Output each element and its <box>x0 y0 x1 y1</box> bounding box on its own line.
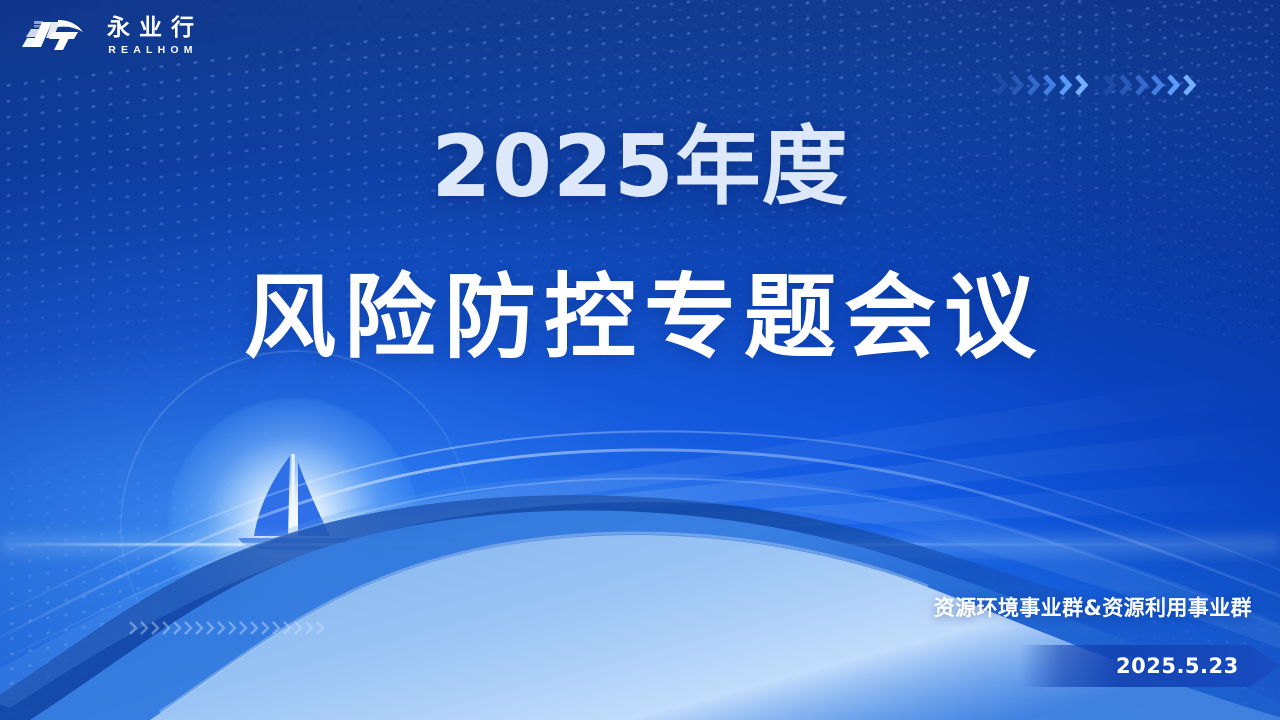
logo-english-name: REALHOM <box>103 45 197 56</box>
chevron-strip-top-right-b <box>1103 72 1207 98</box>
title-year: 2025年度 <box>0 124 1280 210</box>
chevron-strip-top-right-a <box>995 72 1099 98</box>
realhom-logo[interactable]: 永业行 REALHOM <box>22 16 203 56</box>
logo-chinese-name: 永业行 <box>98 17 203 40</box>
date-banner: 2025.5.23 <box>1020 645 1280 687</box>
yh-monogram-icon <box>22 16 86 56</box>
date-label: 2025.5.23 <box>1116 654 1239 678</box>
presentation-slide: 永业行 REALHOM 2025年度 风险防控专题会议 资源环境事业群&资源利用… <box>0 0 1280 720</box>
organization-label: 资源环境事业群&资源利用事业群 <box>934 592 1252 622</box>
page-title: 风险防控专题会议 <box>0 272 1280 364</box>
chevron-strip-bottom-left <box>128 618 328 638</box>
